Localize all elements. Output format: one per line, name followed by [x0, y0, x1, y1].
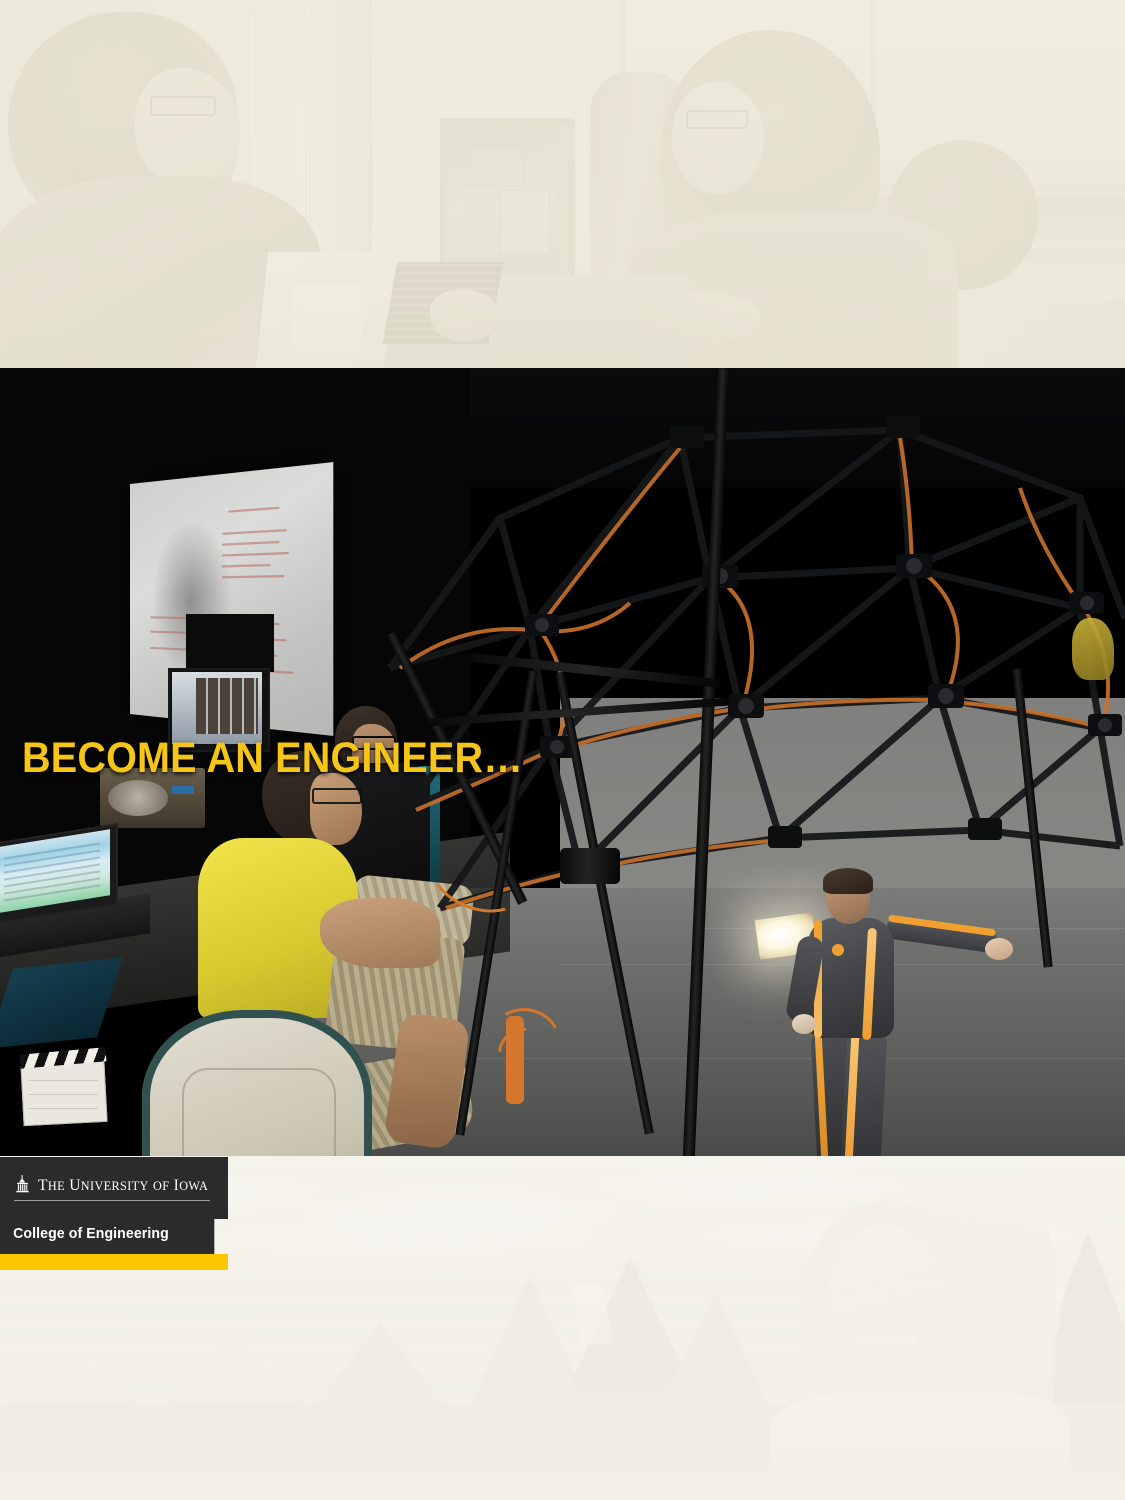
page-title: BECOME AN ENGINEER…	[22, 737, 523, 780]
logo-divider	[14, 1200, 210, 1201]
motion-capture-lab-photo: BECOME AN ENGINEER… and something more	[0, 368, 1125, 1156]
university-logo-lockup: THE UNIVERSITY OF IOWA College of Engine…	[0, 1157, 228, 1270]
college-name: College of Engineering	[0, 1219, 214, 1254]
poster-page: BECOME AN ENGINEER… and something more	[0, 0, 1125, 1500]
old-capitol-building-icon	[14, 1175, 31, 1193]
university-wordmark: THE UNIVERSITY OF IOWA	[38, 1178, 208, 1194]
mocap-performer	[790, 868, 1040, 1156]
clapperboard	[20, 1060, 107, 1126]
gold-accent-bar	[0, 1254, 228, 1270]
top-photo-band	[0, 0, 1125, 370]
